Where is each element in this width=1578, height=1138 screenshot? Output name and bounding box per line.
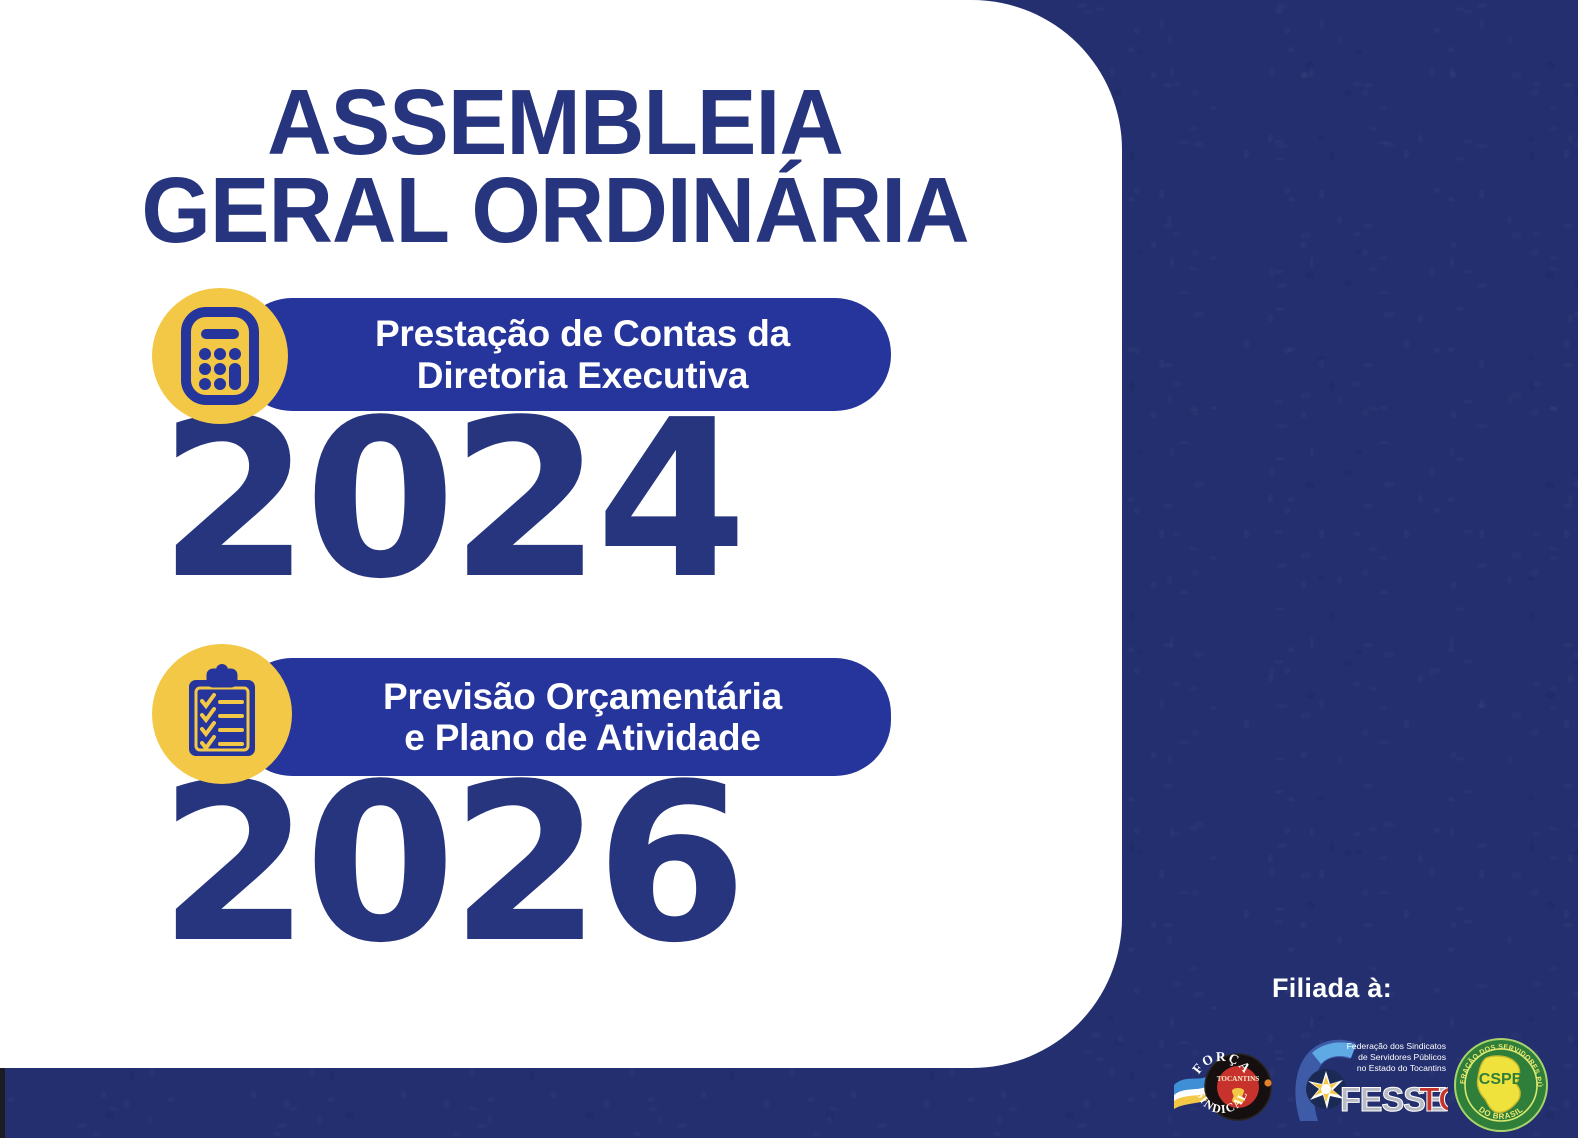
- fesserto-tagline-1: Federação dos Sindicatos: [1347, 1041, 1446, 1051]
- badge-label-line-1: Previsão Orçamentária: [383, 676, 782, 717]
- badge-pill-accountability: Prestação de Contas da Diretoria Executi…: [236, 298, 891, 411]
- badge-pill-budget: Previsão Orçamentária e Plano de Ativida…: [236, 658, 891, 776]
- fesserto-logo: Federação dos Sindicatos de Servidores P…: [1288, 1033, 1448, 1128]
- clipboard-checklist-icon-circle: [152, 644, 292, 784]
- page-title: ASSEMBLEIA GERAL ORDINÁRIA: [55, 78, 1055, 255]
- fesserto-wordmark-2: TO: [1419, 1081, 1448, 1119]
- badge-label-line-2: e Plano de Atividade: [404, 717, 761, 758]
- badge-label: Prestação de Contas da Diretoria Executi…: [319, 313, 808, 396]
- poster-canvas: ASSEMBLEIA GERAL ORDINÁRIA: [0, 0, 1578, 1138]
- cspb-logo: CSPB CONFEDERAÇÃO DOS SERVIDORES PÚBLICO…: [1452, 1036, 1550, 1134]
- year-2024: 2024: [0, 392, 900, 610]
- year-2026: 2026: [0, 756, 900, 974]
- affiliation-label: Filiada à:: [1272, 973, 1392, 1004]
- footer-affiliations: Filiada à:: [1160, 965, 1578, 1138]
- cspb-acronym: CSPB: [1479, 1071, 1523, 1088]
- fesserto-tagline-2: de Servidores Públicos: [1358, 1052, 1446, 1062]
- calculator-icon: [181, 307, 259, 405]
- clipboard-checklist-icon: [181, 664, 263, 764]
- forca-sindical-logo: TOCANTINS FORÇA SINDICAL: [1172, 1041, 1290, 1129]
- agenda-block-accountability: Prestação de Contas da Diretoria Executi…: [0, 288, 1100, 420]
- headline-line-2: GERAL ORDINÁRIA: [75, 166, 1035, 254]
- calculator-icon-circle: [152, 288, 288, 424]
- fesserto-tagline-3: no Estado do Tocantins: [1357, 1063, 1446, 1073]
- headline-line-1: ASSEMBLEIA: [75, 78, 1035, 166]
- badge-label-line-2: Diretoria Executiva: [417, 355, 748, 396]
- badge-label-line-1: Prestação de Contas da: [375, 313, 790, 354]
- agenda-block-budget: Previsão Orçamentária e Plano de Ativida…: [0, 644, 1100, 776]
- affiliation-logo-row: TOCANTINS FORÇA SINDICAL: [1160, 1003, 1578, 1123]
- forca-center-text: TOCANTINS: [1217, 1075, 1260, 1083]
- badge-label: Previsão Orçamentária e Plano de Ativida…: [327, 676, 800, 759]
